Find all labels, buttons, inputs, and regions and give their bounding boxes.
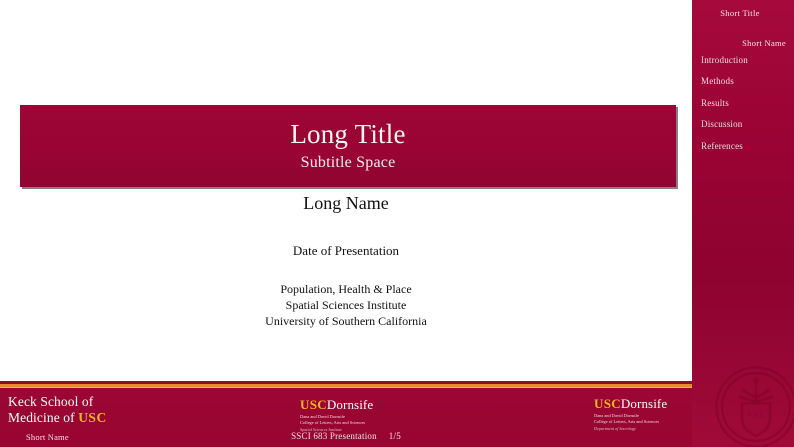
usc-seal-watermark-icon: P A L: [712, 363, 794, 447]
slide-title: Long Title: [290, 120, 405, 150]
sidebar-short-name: Short Name: [692, 38, 794, 48]
dornsife-center-sub-line-2: College of Letters, Arts and Sciences: [300, 420, 373, 426]
dornsife-right-sub-line-2: College of Letters, Arts and Sciences: [594, 419, 667, 425]
slide-content-area: Long Title Subtitle Space Long Name Date…: [0, 0, 692, 381]
dornsife-logo-right: USCDornsife Dana and David Dornsife Coll…: [594, 397, 667, 431]
footer-rule-gold-light: [0, 387, 692, 388]
keck-logo-medicine-text: Medicine of: [8, 410, 78, 425]
author-name: Long Name: [0, 193, 692, 214]
sidebar-item-discussion[interactable]: Discussion: [701, 120, 793, 130]
dornsife-logo-center: USCDornsife Dana and David Dornsife Coll…: [300, 398, 373, 432]
sidebar-short-title: Short Title: [692, 8, 794, 18]
dornsife-center-wordmark: USCDornsife: [300, 398, 373, 411]
keck-logo-usc-text: USC: [78, 410, 107, 425]
dornsife-right-usc-text: USC: [594, 396, 621, 411]
slide-subtitle: Subtitle Space: [301, 154, 396, 172]
presentation-date: Date of Presentation: [0, 243, 692, 259]
presentation-slide: Long Title Subtitle Space Long Name Date…: [0, 0, 794, 447]
sidebar-item-introduction[interactable]: Introduction: [701, 56, 793, 66]
institute-line-3: University of Southern California: [0, 314, 692, 330]
dornsife-right-wordmark: USCDornsife: [594, 397, 667, 410]
keck-school-logo: Keck School of Medicine of USC: [8, 394, 107, 426]
sidebar-item-references[interactable]: References: [701, 142, 793, 152]
title-block: Long Title Subtitle Space: [20, 105, 676, 187]
sidebar-item-methods[interactable]: Methods: [701, 77, 793, 87]
keck-logo-line-2: Medicine of USC: [8, 410, 107, 426]
institute-line-1: Population, Health & Place: [0, 282, 692, 298]
dornsife-center-usc-text: USC: [300, 397, 327, 412]
svg-text:P A L: P A L: [747, 411, 765, 420]
institute-block: Population, Health & Place Spatial Scien…: [0, 282, 692, 329]
institute-line-2: Spatial Sciences Institute: [0, 298, 692, 314]
footer-page-note: SSCI 683 Presentation1/5: [0, 431, 692, 441]
dornsife-right-name-text: Dornsife: [621, 396, 667, 411]
footer-page-number: 1/5: [389, 431, 401, 441]
sidebar-item-results[interactable]: Results: [701, 99, 793, 109]
slide-sidebar: Short Title Short Name Introduction Meth…: [692, 0, 794, 447]
sidebar-header: Short Title Short Name: [692, 8, 794, 48]
sidebar-navigation: Introduction Methods Results Discussion …: [701, 56, 793, 163]
dornsife-center-name-text: Dornsife: [327, 397, 373, 412]
keck-logo-line-1: Keck School of: [8, 394, 107, 410]
footer-course-label: SSCI 683 Presentation: [291, 431, 377, 441]
